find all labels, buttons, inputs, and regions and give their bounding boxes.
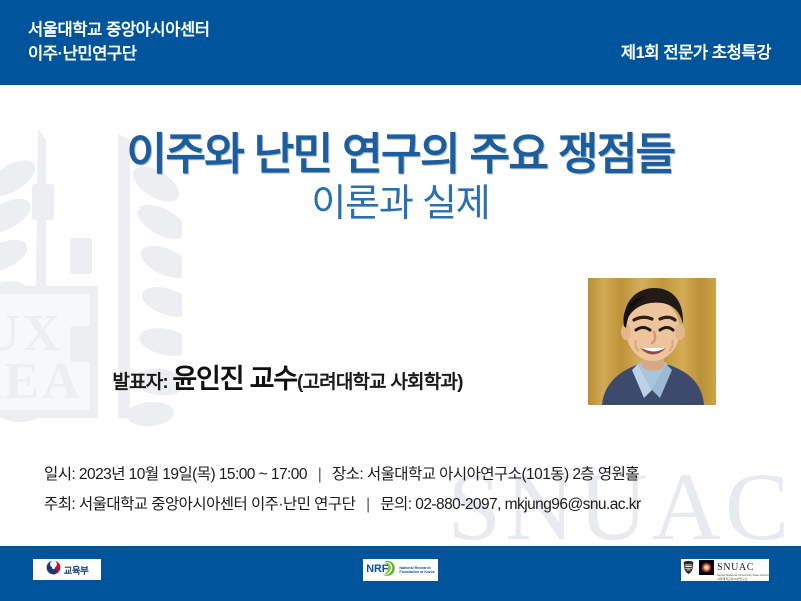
snu-emblem-icon: [681, 560, 696, 580]
logo-snuac: SNUAC Seoul National University Asia Cen…: [681, 559, 769, 581]
main-title: 이주와 난민 연구의 주요 쟁점들: [0, 132, 801, 178]
event-poster: UX AEA SNUAC 서울대학교 중앙아시아센터 이주·난민연구단 제1회 …: [0, 0, 801, 601]
event-info-block: 일시: 2023년 10월 19일(목) 15:00 ~ 17:00 | 장소:…: [44, 467, 764, 526]
title-block: 이주와 난민 연구의 주요 쟁점들 이론과 실제: [0, 132, 801, 226]
poster-body: 이주와 난민 연구의 주요 쟁점들 이론과 실제: [0, 85, 801, 546]
event-info-line-2: 주최: 서울대학교 중앙아시아센터 이주·난민 연구단 | 문의: 02-880…: [44, 497, 764, 513]
subtitle: 이론과 실제: [0, 184, 801, 226]
speaker-label: 발표자:: [112, 372, 168, 393]
taegeuk-icon: [46, 560, 61, 580]
info-separator-1: |: [311, 467, 328, 483]
speaker-affiliation: (고려대학교 사회학과): [297, 372, 463, 393]
snuac-prism-icon: [699, 560, 714, 580]
info-separator-2: |: [359, 497, 376, 513]
logo-snuac-subtitle: Seoul National University Asia Center 서울…: [717, 574, 769, 582]
event-datetime: 일시: 2023년 10월 19일(목) 15:00 ~ 17:00: [44, 466, 307, 483]
poster-header: 서울대학교 중앙아시아센터 이주·난민연구단 제1회 전문가 초청특강: [0, 0, 801, 85]
event-contact: 문의: 02-880-2097, mkjung96@snu.ac.kr: [380, 496, 640, 513]
speaker-photo: [588, 278, 716, 405]
lecture-series-label: 제1회 전문가 초청특강: [621, 39, 771, 63]
event-venue: 장소: 서울대학교 아시아연구소(101동) 2층 영원홀: [332, 466, 639, 483]
speaker-name: 윤인진 교수: [172, 364, 297, 394]
speaker-line: 발표자: 윤인진 교수(고려대학교 사회학과): [0, 357, 575, 396]
event-host: 주최: 서울대학교 중앙아시아센터 이주·난민 연구단: [44, 496, 355, 513]
logo-ministry-of-education: 교육부: [33, 559, 101, 580]
logo-nrf: NRF National Research Foundation of Kore…: [363, 559, 438, 581]
nrf-swoosh-icon: NRF: [366, 559, 397, 582]
logo-snuac-label: SNUAC: [717, 562, 754, 573]
event-info-line-1: 일시: 2023년 10월 19일(목) 15:00 ~ 17:00 | 장소:…: [44, 467, 764, 483]
logo-nrf-subtitle: National Research Foundation of Korea: [399, 566, 434, 575]
organization-title: 서울대학교 중앙아시아센터 이주·난민연구단: [28, 19, 210, 66]
logo-ministry-of-education-label: 교육부: [64, 563, 89, 577]
svg-text:NRF: NRF: [367, 563, 390, 575]
